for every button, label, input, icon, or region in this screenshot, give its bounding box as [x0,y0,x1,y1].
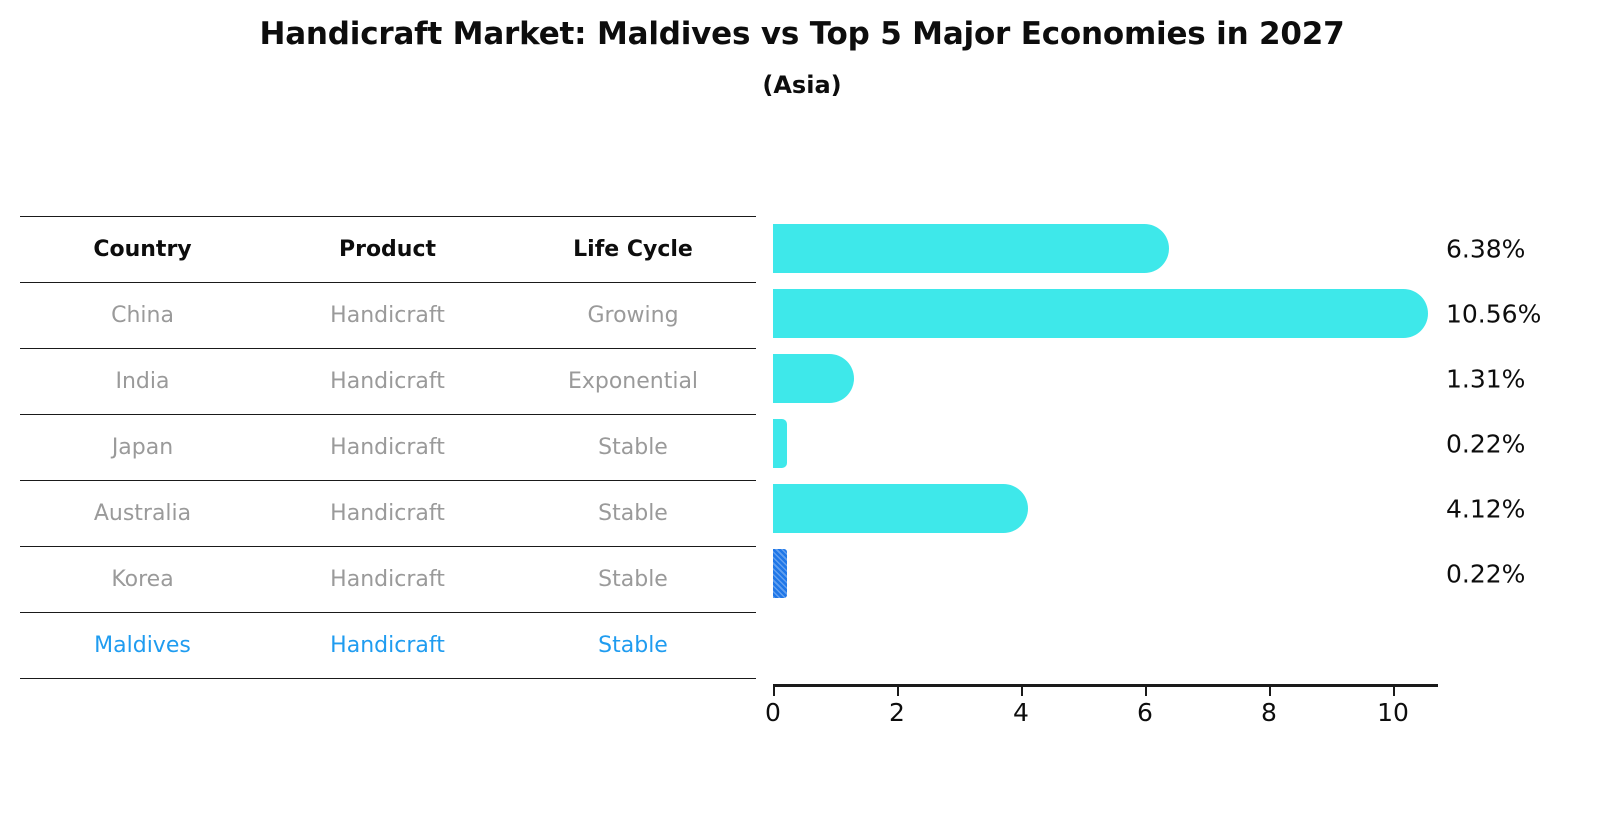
bar-value-label: 0.22% [1446,429,1525,458]
column-header-country: Country [20,217,265,283]
bar-value-label: 6.38% [1446,234,1525,263]
cell-product: Handicraft [265,283,510,349]
x-axis-tick [1021,687,1023,696]
cell-life-cycle: Stable [510,547,756,613]
bar-value-label: 4.12% [1446,494,1525,523]
info-table-wrapper: Country Product Life Cycle China Handicr… [20,216,756,679]
cell-country: India [20,349,265,415]
table-body: China Handicraft Growing India Handicraf… [20,283,756,679]
x-axis-tick-label: 4 [1013,698,1029,727]
bar-value-label: 0.22% [1446,559,1525,588]
cell-life-cycle: Stable [510,481,756,547]
cell-country: Japan [20,415,265,481]
x-axis-tick-label: 2 [889,698,905,727]
table-header-row: Country Product Life Cycle [20,217,756,283]
bar-highlighted [773,549,787,598]
table-row: Korea Handicraft Stable [20,547,756,613]
cell-country: Maldives [20,613,265,679]
bar-row [773,216,1453,281]
bar-row [773,541,1453,606]
cell-product: Handicraft [265,349,510,415]
table-row: Australia Handicraft Stable [20,481,756,547]
bar-row [773,476,1453,541]
x-axis-tick [1145,687,1147,696]
cell-product: Handicraft [265,547,510,613]
cell-country: Korea [20,547,265,613]
bar-row [773,346,1453,411]
table-row: Japan Handicraft Stable [20,415,756,481]
bar [773,224,1169,273]
bar-row [773,281,1453,346]
page-title: Handicraft Market: Maldives vs Top 5 Maj… [0,14,1604,54]
cell-country: Australia [20,481,265,547]
bar [773,354,854,403]
cell-product: Handicraft [265,613,510,679]
chart-page: Handicraft Market: Maldives vs Top 5 Maj… [0,0,1604,823]
table-row: China Handicraft Growing [20,283,756,349]
title-block: Handicraft Market: Maldives vs Top 5 Maj… [0,14,1604,102]
x-axis-tick [1269,687,1271,696]
table-row-highlighted: Maldives Handicraft Stable [20,613,756,679]
bar-value-label: 1.31% [1446,364,1525,393]
column-header-product: Product [265,217,510,283]
x-axis-tick-label: 0 [765,698,781,727]
table-header: Country Product Life Cycle [20,217,756,283]
bar-plot-area [773,216,1453,686]
column-header-life-cycle: Life Cycle [510,217,756,283]
cell-life-cycle: Exponential [510,349,756,415]
x-axis-tick [1393,687,1395,696]
table-row: India Handicraft Exponential [20,349,756,415]
x-axis-tick [897,687,899,696]
bar [773,419,787,468]
cell-life-cycle: Stable [510,613,756,679]
page-subtitle: (Asia) [0,68,1604,102]
bar-value-label: 10.56% [1446,299,1541,328]
info-table: Country Product Life Cycle China Handicr… [20,216,756,679]
cell-product: Handicraft [265,481,510,547]
x-axis-line [773,684,1438,687]
x-axis-tick-label: 6 [1137,698,1153,727]
bar [773,484,1028,533]
cell-product: Handicraft [265,415,510,481]
bar-row [773,411,1453,476]
cell-life-cycle: Growing [510,283,756,349]
x-axis-tick-label: 10 [1377,698,1409,727]
x-axis-tick-label: 8 [1261,698,1277,727]
cell-country: China [20,283,265,349]
x-axis-tick [773,687,775,696]
cell-life-cycle: Stable [510,415,756,481]
bar [773,289,1428,338]
